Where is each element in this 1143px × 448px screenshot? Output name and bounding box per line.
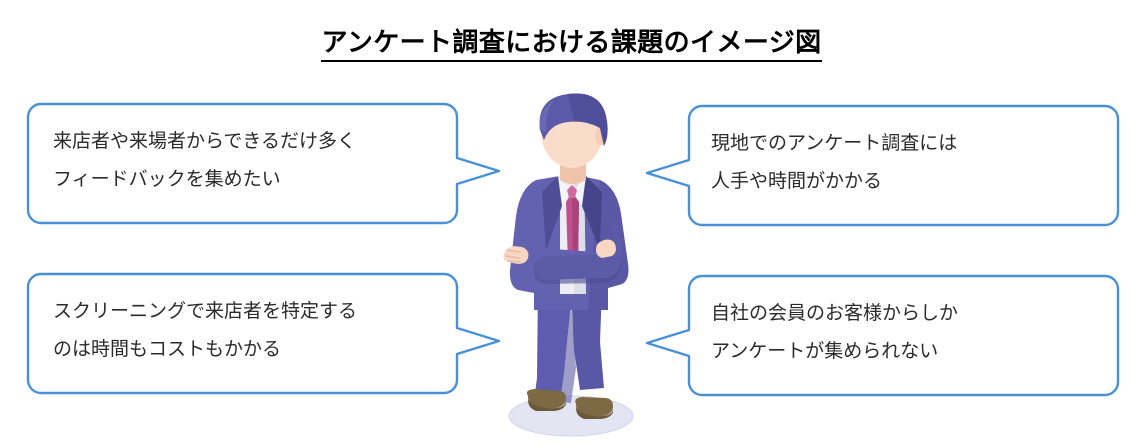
page-title-text: アンケート調査における課題のイメージ図 <box>321 27 821 62</box>
speech-bubble-bottom-left[interactable]: スクリーニングで来店者を特定する のは時間もコストもかかる <box>27 273 500 395</box>
speech-bubble-top-left-text: 来店者や来場者からできるだけ多く フィードバックを集めたい <box>53 123 356 199</box>
bubble-line: 来店者や来場者からできるだけ多く <box>53 123 356 161</box>
bubble-line: 自社の会員のお客様からしか <box>711 295 958 333</box>
bubble-line: スクリーニングで来店者を特定する <box>53 293 357 331</box>
speech-bubble-bottom-right[interactable]: 自社の会員のお客様からしか アンケートが集められない <box>643 275 1119 397</box>
bubble-line: フィードバックを集めたい <box>53 161 356 199</box>
speech-bubble-bottom-left-text: スクリーニングで来店者を特定する のは時間もコストもかかる <box>53 293 357 369</box>
speech-bubble-bottom-right-text: 自社の会員のお客様からしか アンケートが集められない <box>711 295 958 371</box>
speech-bubble-top-right[interactable]: 現地でのアンケート調査には 人手や時間がかかる <box>643 105 1119 227</box>
businessman-illustration <box>476 88 666 440</box>
businessman-icon <box>476 88 666 440</box>
bubble-line: アンケートが集められない <box>711 333 958 371</box>
bubble-line: 人手や時間がかかる <box>711 163 957 201</box>
diagram-canvas: アンケート調査における課題のイメージ図 来店者や来場者からできるだけ多く フィー… <box>0 0 1143 448</box>
bubble-line: 現地でのアンケート調査には <box>711 125 957 163</box>
page-title: アンケート調査における課題のイメージ図 <box>0 22 1143 59</box>
speech-bubble-top-left[interactable]: 来店者や来場者からできるだけ多く フィードバックを集めたい <box>27 103 500 225</box>
bubble-line: のは時間もコストもかかる <box>53 331 357 369</box>
speech-bubble-top-right-text: 現地でのアンケート調査には 人手や時間がかかる <box>711 125 957 201</box>
